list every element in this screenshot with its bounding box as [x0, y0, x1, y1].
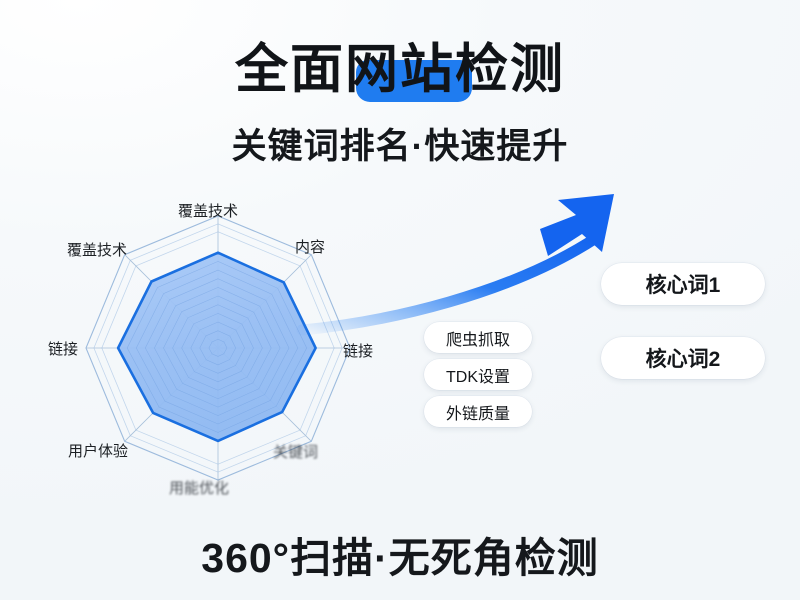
pill-crawl-label: 爬虫抓取 [446, 326, 510, 350]
pill-keyword-1-label: 核心词1 [646, 269, 721, 299]
pill-keyword-1[interactable]: 核心词1 [601, 263, 765, 305]
pill-tdk-label: TDK设置 [446, 363, 510, 387]
pill-tdk[interactable]: TDK设置 [424, 359, 532, 390]
page-title: 全面网站检测 [0, 34, 800, 106]
radar-label-top: 覆盖技术 [178, 200, 238, 221]
radar-label-left: 链接 [48, 338, 78, 359]
pill-keyword-2[interactable]: 核心词2 [601, 337, 765, 379]
radar-label-upper-left: 覆盖技术 [67, 239, 127, 260]
radar-label-bottom: 用能优化 [169, 477, 229, 498]
pill-links[interactable]: 外链质量 [424, 396, 532, 427]
radar-label-lower-right: 关键词 [273, 441, 318, 462]
page-subtitle: 关键词排名·快速提升 [0, 118, 800, 169]
pill-crawl[interactable]: 爬虫抓取 [424, 322, 532, 353]
poster-canvas: 全面网站检测 关键词排名·快速提升 覆盖技术 内容 链接 关键词 用能优化 用户… [0, 0, 800, 600]
footer-slogan: 360°扫描·无死角检测 [0, 524, 800, 584]
pill-links-label: 外链质量 [446, 400, 510, 424]
page-title-text: 全面网站检测 [0, 34, 800, 106]
radar-label-lower-left: 用户体验 [68, 440, 128, 461]
pill-keyword-2-label: 核心词2 [646, 343, 721, 373]
radar-series-polygon [118, 253, 316, 441]
